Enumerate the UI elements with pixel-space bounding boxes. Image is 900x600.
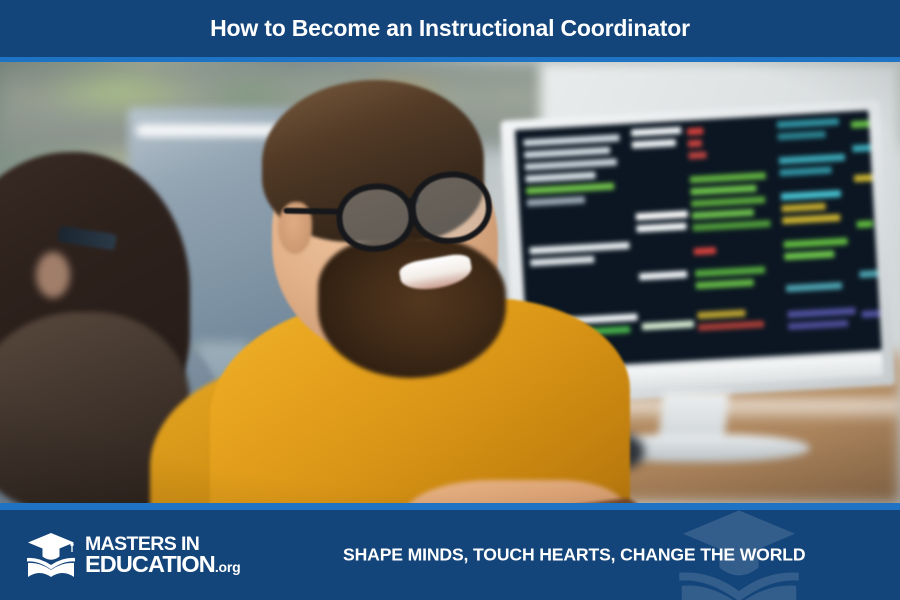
header-divider xyxy=(0,57,900,62)
photo-vignette xyxy=(0,62,900,503)
header-bar: How to Become an Instructional Coordinat… xyxy=(0,0,900,57)
footer-divider xyxy=(0,503,900,510)
footer-bar: MASTERS IN EDUCATION.org SHAPE MINDS, TO… xyxy=(0,510,900,600)
footer-tagline: SHAPE MINDS, TOUCH HEARTS, CHANGE THE WO… xyxy=(343,545,805,566)
article-hero-banner: How to Become an Instructional Coordinat… xyxy=(0,0,900,600)
site-logo[interactable]: MASTERS IN EDUCATION.org xyxy=(26,532,241,578)
hero-photo xyxy=(0,62,900,503)
graduation-cap-book-icon xyxy=(26,532,76,578)
site-logo-tld: .org xyxy=(215,559,241,575)
page-title: How to Become an Instructional Coordinat… xyxy=(210,15,690,42)
site-logo-line2: EDUCATION xyxy=(85,551,215,577)
site-logo-wordmark: MASTERS IN EDUCATION.org xyxy=(85,535,241,575)
